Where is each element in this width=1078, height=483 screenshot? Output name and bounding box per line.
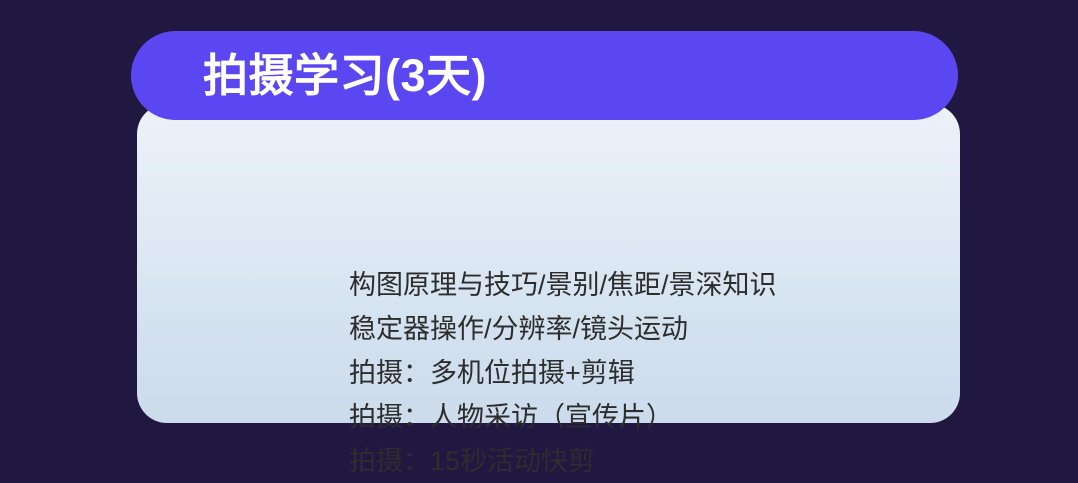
list-item: 拍摄：人物采访（宣传片） (349, 395, 1069, 439)
list-item: 拍摄：多机位拍摄+剪辑 (349, 351, 1069, 395)
course-topic-list: 构图原理与技巧/景别/焦距/景深知识 稳定器操作/分辨率/镜头运动 拍摄：多机位… (349, 263, 1069, 483)
list-item: 稳定器操作/分辨率/镜头运动 (349, 307, 1069, 351)
list-item: 拍摄：15秒活动快剪 (349, 439, 1069, 483)
page-title: 拍摄学习(3天) (203, 53, 487, 98)
course-card-header: 拍摄学习(3天) (131, 31, 958, 120)
slide-canvas: 构图原理与技巧/景别/焦距/景深知识 稳定器操作/分辨率/镜头运动 拍摄：多机位… (0, 0, 1078, 452)
list-item: 构图原理与技巧/景别/焦距/景深知识 (349, 263, 1069, 307)
course-card: 构图原理与技巧/景别/焦距/景深知识 稳定器操作/分辨率/镜头运动 拍摄：多机位… (137, 104, 960, 423)
